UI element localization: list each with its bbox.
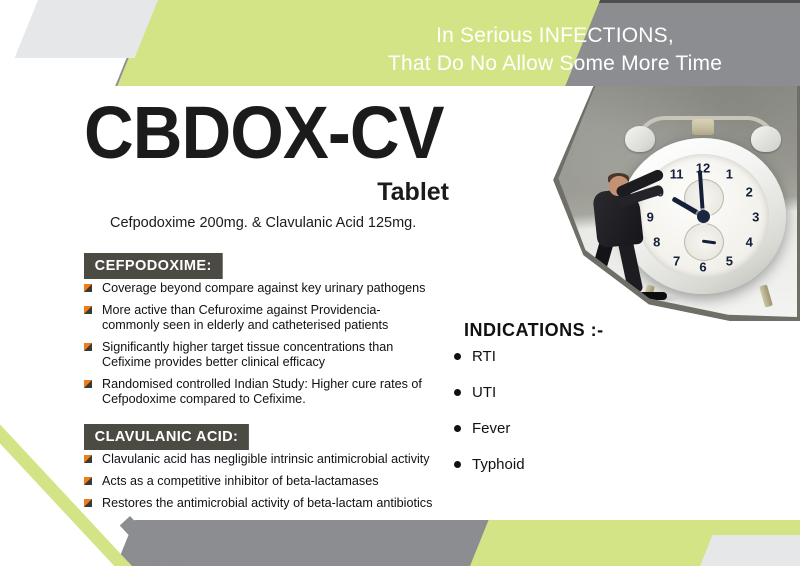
- clock-number-3: 3: [752, 211, 759, 224]
- list-item: More active than Cefuroxime against Prov…: [84, 303, 434, 333]
- list-item: UTI: [452, 384, 632, 401]
- clavulanic-acid-bullet-list: Clavulanic acid has negligible intrinsic…: [84, 452, 434, 518]
- list-item-text: More active than Cefuroxime against Prov…: [102, 303, 388, 332]
- dot-bullet-icon: [454, 461, 461, 468]
- list-item: Acts as a competitive inhibitor of beta-…: [84, 474, 434, 489]
- square-bullet-icon: [84, 455, 92, 463]
- clock-number-4: 4: [746, 236, 753, 249]
- list-item: Clavulanic acid has negligible intrinsic…: [84, 452, 434, 467]
- advertisement-page: In Serious INFECTIONS, That Do No Allow …: [0, 0, 800, 566]
- list-item: Coverage beyond compare against key urin…: [84, 281, 434, 296]
- dot-bullet-icon: [454, 353, 461, 360]
- square-bullet-icon: [84, 499, 92, 507]
- clock-foot-right: [759, 284, 773, 307]
- clock-center-pin: [697, 210, 710, 223]
- clock-number-6: 6: [699, 260, 706, 273]
- list-item: Typhoid: [452, 456, 632, 473]
- composition-text: Cefpodoxime 200mg. & Clavulanic Acid 125…: [110, 215, 416, 231]
- header-tagline-line1: In Serious INFECTIONS,: [330, 22, 780, 50]
- clock-knob: [692, 119, 714, 135]
- top-lightgray-parallelogram: [15, 0, 158, 58]
- list-item: RTI: [452, 348, 632, 365]
- indications-title: INDICATIONS :-: [464, 320, 604, 341]
- list-item-text: Restores the antimicrobial activity of b…: [102, 496, 432, 510]
- list-item: Restores the antimicrobial activity of b…: [84, 496, 434, 511]
- dot-bullet-icon: [454, 425, 461, 432]
- list-item: Randomised controlled Indian Study: High…: [84, 377, 434, 407]
- product-name: CBDOX-CV: [84, 96, 444, 170]
- clock-number-2: 2: [746, 186, 753, 199]
- header-tagline-line2: That Do No Allow Some More Time: [330, 50, 780, 78]
- dosage-form: Tablet: [84, 178, 449, 207]
- section-header-clavulanic-acid: CLAVULANIC ACID:: [84, 424, 249, 450]
- square-bullet-icon: [84, 306, 92, 314]
- list-item: Significantly higher target tissue conce…: [84, 340, 434, 370]
- square-bullet-icon: [84, 380, 92, 388]
- indications-list: RTI UTI Fever Typhoid: [452, 348, 632, 492]
- square-bullet-icon: [84, 343, 92, 351]
- list-item-text: Acts as a competitive inhibitor of beta-…: [102, 474, 379, 488]
- list-item-text: UTI: [472, 384, 496, 401]
- clock-number-1: 1: [726, 167, 733, 180]
- clock-subdial-bottom: [684, 223, 724, 261]
- clock-bell-right: [751, 126, 781, 152]
- clock-number-5: 5: [726, 254, 733, 267]
- businessman-figure: [583, 172, 679, 300]
- square-bullet-icon: [84, 284, 92, 292]
- list-item-text: Typhoid: [472, 456, 525, 473]
- list-item-text: Fever: [472, 420, 510, 437]
- clock-photo: 12 1 2 3 4 5 6 7 8 9 10 11: [548, 86, 800, 321]
- square-bullet-icon: [84, 477, 92, 485]
- bottom-lightgray-parallelogram: [700, 535, 800, 566]
- list-item-text: Significantly higher target tissue conce…: [102, 340, 393, 369]
- cefpodoxime-bullet-list: Coverage beyond compare against key urin…: [84, 281, 434, 414]
- section-header-cefpodoxime: CEFPODOXIME:: [84, 253, 222, 279]
- list-item-text: Clavulanic acid has negligible intrinsic…: [102, 452, 430, 466]
- header-tagline: In Serious INFECTIONS, That Do No Allow …: [330, 22, 780, 78]
- list-item-text: Randomised controlled Indian Study: High…: [102, 377, 422, 406]
- dot-bullet-icon: [454, 389, 461, 396]
- figure-back-shoe: [591, 294, 615, 302]
- list-item-text: Coverage beyond compare against key urin…: [102, 281, 425, 295]
- list-item: Fever: [452, 420, 632, 437]
- photo-inner: 12 1 2 3 4 5 6 7 8 9 10 11: [551, 86, 797, 317]
- list-item-text: RTI: [472, 348, 496, 365]
- clock-bell-left: [625, 126, 655, 152]
